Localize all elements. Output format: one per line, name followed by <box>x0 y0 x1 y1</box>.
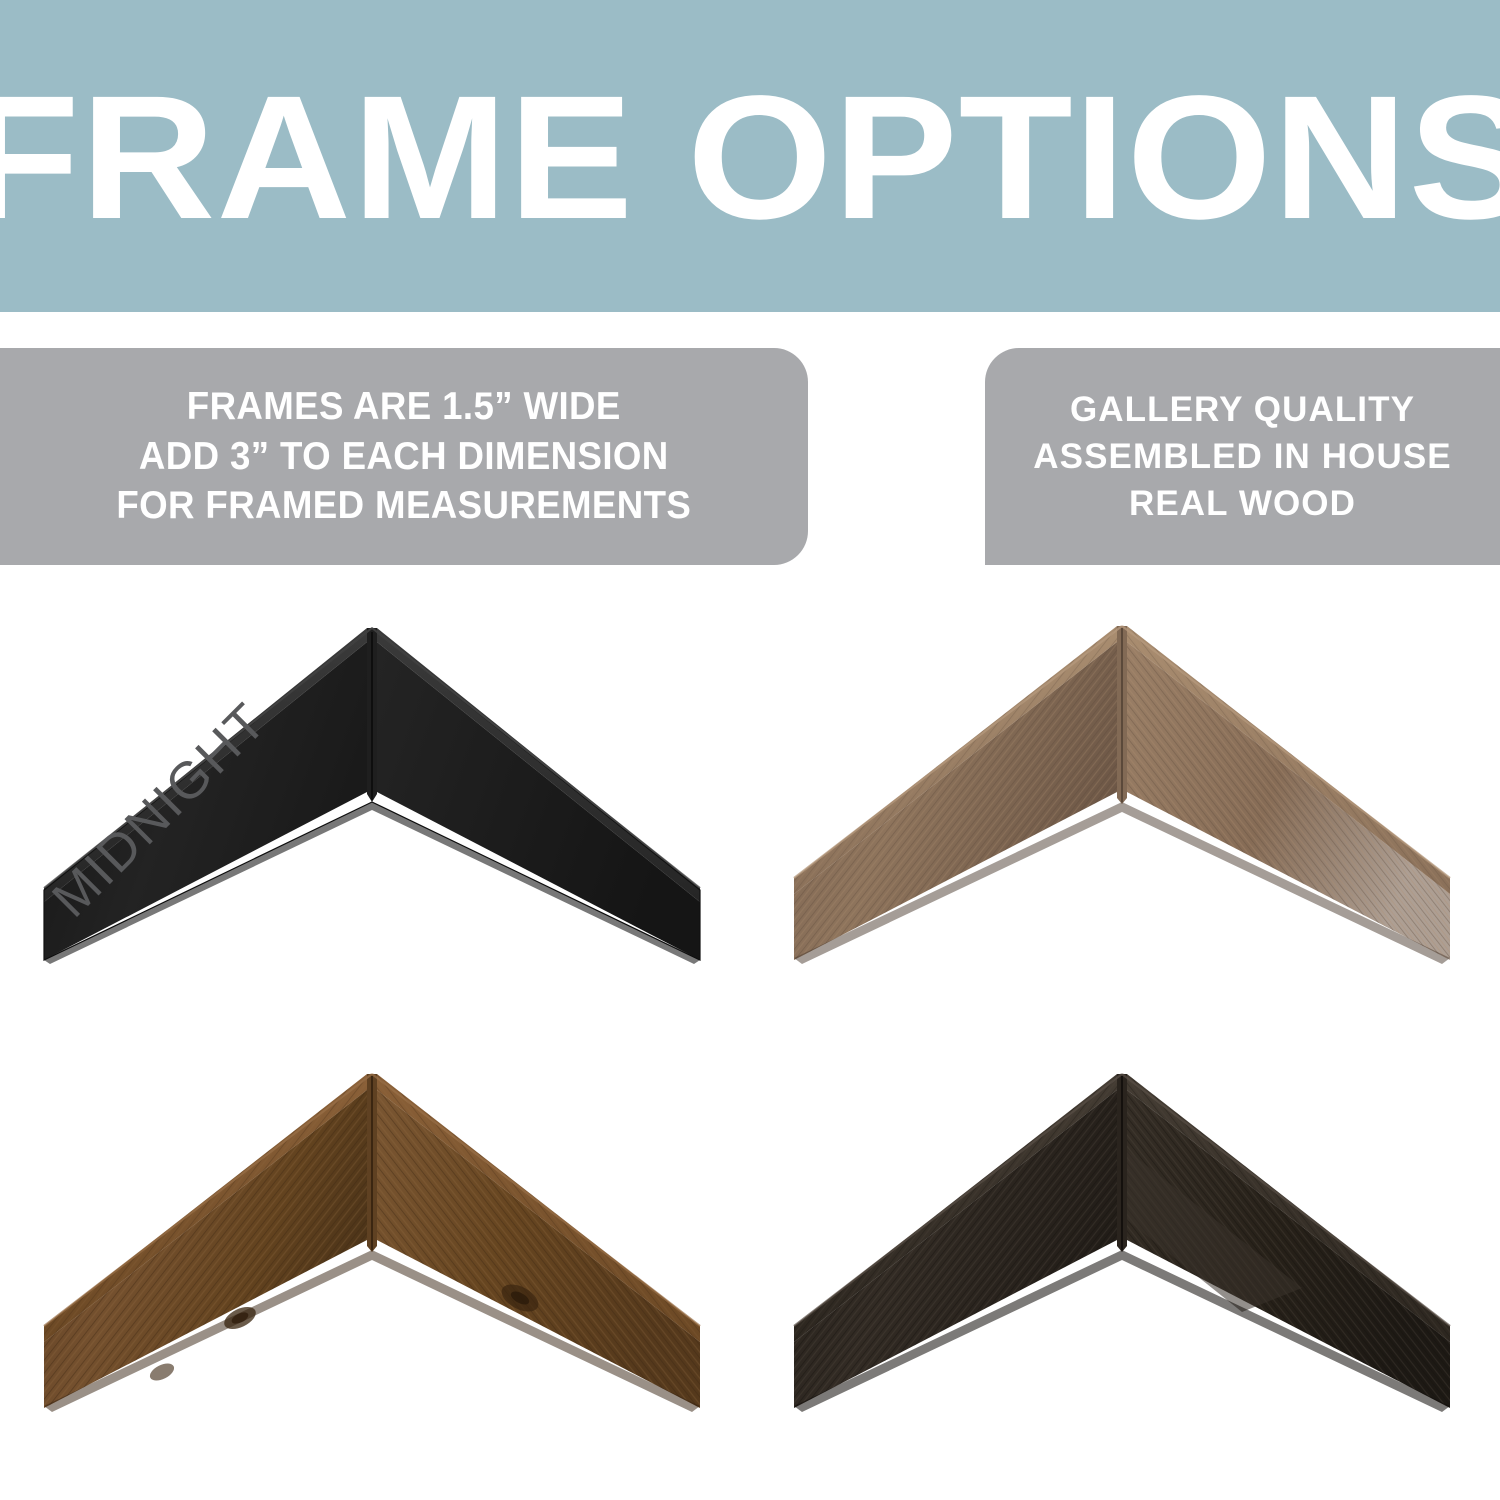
page-title: FRAME OPTIONS <box>0 72 1500 240</box>
chevron-midnight-icon <box>22 602 722 972</box>
frame-sample-grid: MIDNIGHT <box>0 578 1500 1438</box>
frame-option-farmhouse[interactable]: FARMHOUSE <box>0 1026 750 1456</box>
frame-corner-sample-midnight <box>22 602 722 972</box>
chevron-charcoal-icon <box>772 1050 1472 1420</box>
frame-corner-sample-farmhouse <box>22 1050 722 1420</box>
chevron-farmhouse-icon <box>22 1050 722 1420</box>
chevron-driftwood-icon <box>772 602 1472 972</box>
frame-options-infographic: FRAME OPTIONS FRAMES ARE 1.5” WIDE ADD 3… <box>0 0 1500 1500</box>
frame-option-midnight[interactable]: MIDNIGHT <box>0 578 750 1008</box>
frame-corner-sample-driftwood <box>772 602 1472 972</box>
frame-corner-sample-charcoal <box>772 1050 1472 1420</box>
frame-option-charcoal[interactable]: CHARCOAL <box>750 1026 1500 1456</box>
frame-option-driftwood[interactable]: DRIFTWOOD <box>750 578 1500 1008</box>
measurements-text: FRAMES ARE 1.5” WIDE ADD 3” TO EACH DIME… <box>117 382 692 532</box>
info-box-quality: GALLERY QUALITY ASSEMBLED IN HOUSE REAL … <box>985 348 1500 565</box>
info-box-measurements: FRAMES ARE 1.5” WIDE ADD 3” TO EACH DIME… <box>0 348 808 565</box>
quality-text: GALLERY QUALITY ASSEMBLED IN HOUSE REAL … <box>1033 386 1451 528</box>
header-banner: FRAME OPTIONS <box>0 0 1500 312</box>
